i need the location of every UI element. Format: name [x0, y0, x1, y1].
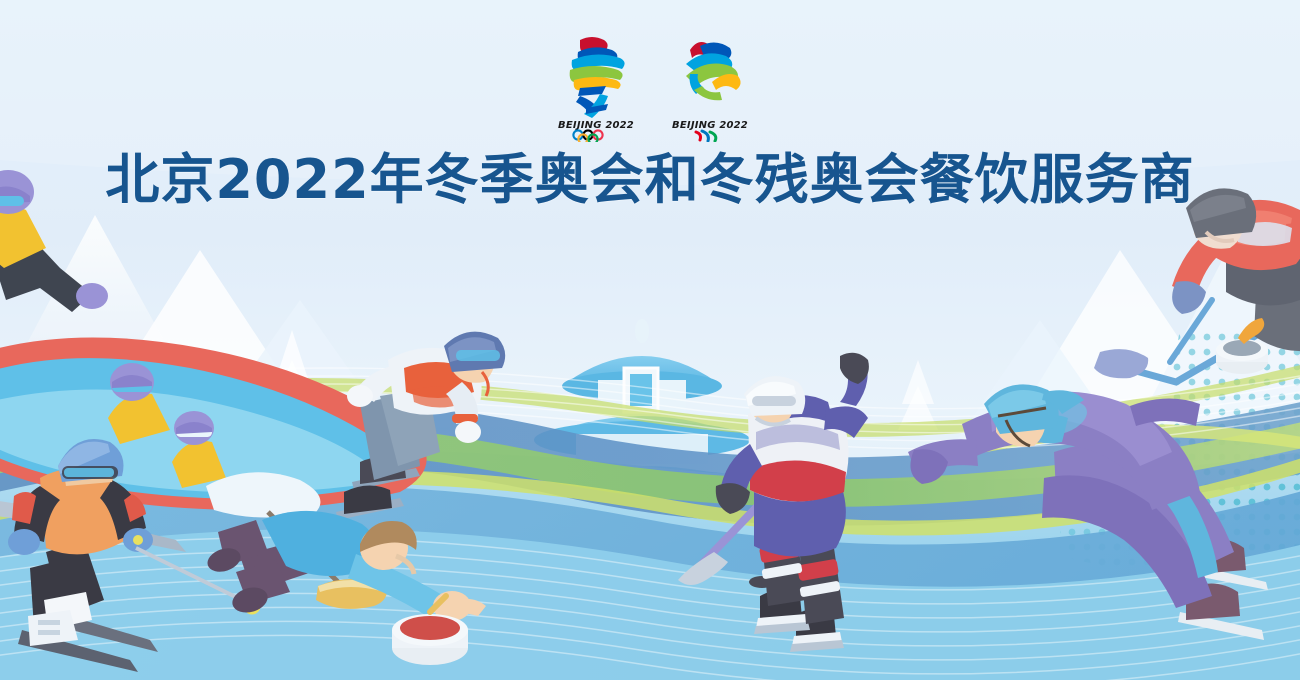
winter-dream-symbol: [570, 37, 625, 118]
paralympic-wordmark: BEIJING 2022: [672, 120, 748, 131]
olympic-rings-icon: [573, 130, 602, 142]
olympic-wordmark: BEIJING 2022: [558, 120, 634, 131]
emblem-group: BEIJING 2022: [548, 30, 758, 142]
paralympic-emblem: BEIJING 2022: [664, 30, 756, 142]
agitos-icon: [696, 131, 716, 141]
olympic-emblem: BEIJING 2022: [550, 30, 642, 142]
leap-symbol: [686, 42, 741, 100]
page-title: 北京2022年冬季奥会和冬残奥会餐饮服务商: [0, 148, 1300, 212]
olympic-banner: BEIJING 2022: [0, 0, 1300, 680]
